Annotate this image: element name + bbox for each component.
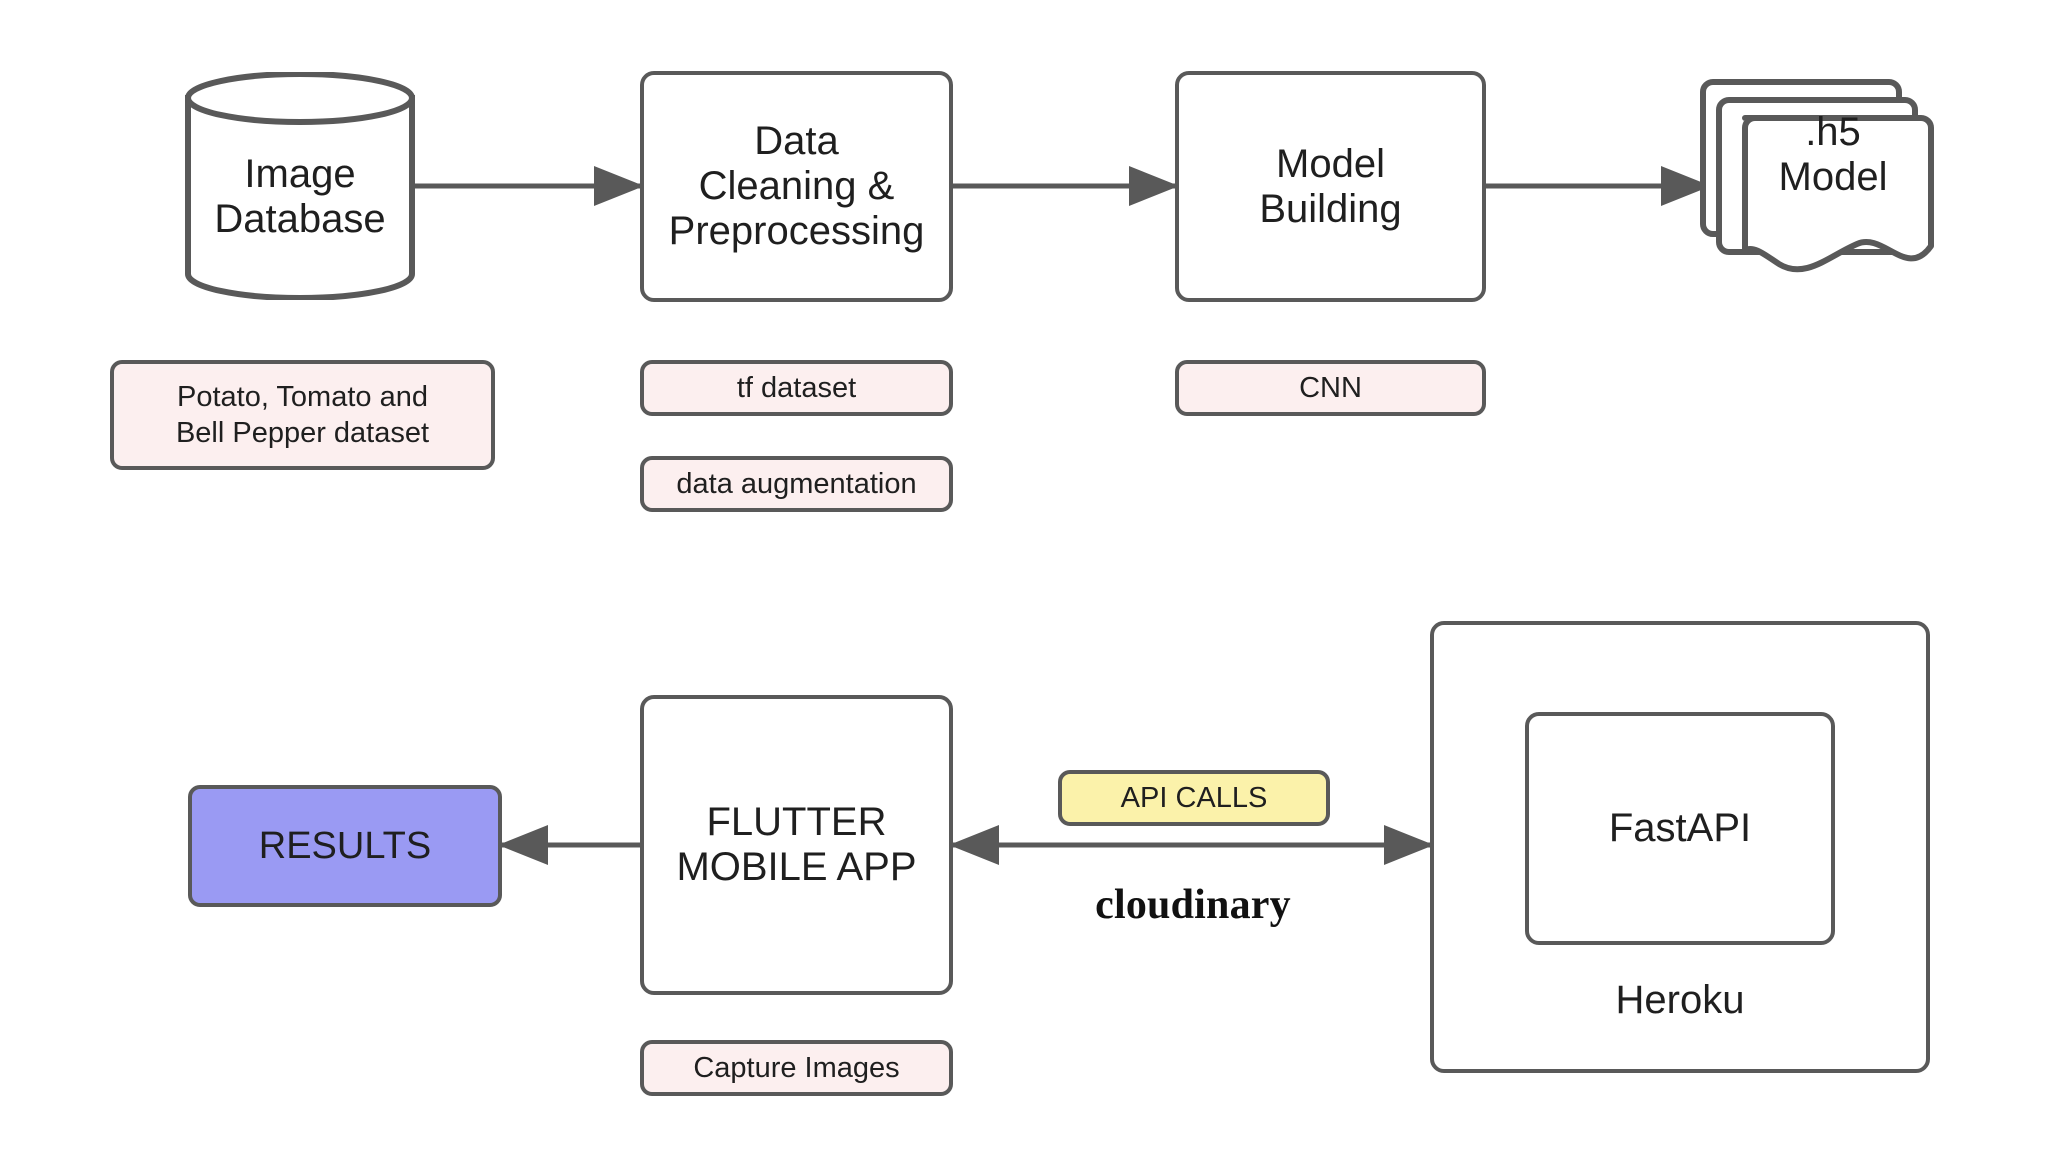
node-flutter-app[interactable]: FLUTTER MOBILE APP — [640, 695, 953, 995]
node-image-database[interactable]: Image Database — [185, 72, 415, 300]
tag-api-calls[interactable]: API CALLS — [1058, 770, 1330, 826]
node-fastapi[interactable]: FastAPI — [1525, 712, 1835, 945]
tag-cnn[interactable]: CNN — [1175, 360, 1486, 416]
node-data-cleaning[interactable]: Data Cleaning & Preprocessing — [640, 71, 953, 302]
node-h5-model[interactable]: .h5 Model — [1700, 60, 1940, 290]
node-model-building[interactable]: Model Building — [1175, 71, 1486, 302]
node-image-database-label: Image Database — [214, 130, 385, 242]
node-h5-model-label: .h5 Model — [1753, 110, 1888, 240]
tag-data-augmentation[interactable]: data augmentation — [640, 456, 953, 512]
tag-dataset[interactable]: Potato, Tomato and Bell Pepper dataset — [110, 360, 495, 470]
diagram-canvas: Image Database Data Cleaning & Preproces… — [0, 0, 2054, 1174]
node-heroku-label: Heroku — [1525, 975, 1835, 1025]
node-results[interactable]: RESULTS — [188, 785, 502, 907]
tag-capture-images[interactable]: Capture Images — [640, 1040, 953, 1096]
tag-tf-dataset[interactable]: tf dataset — [640, 360, 953, 416]
annotation-cloudinary: cloudinary — [1068, 880, 1318, 930]
